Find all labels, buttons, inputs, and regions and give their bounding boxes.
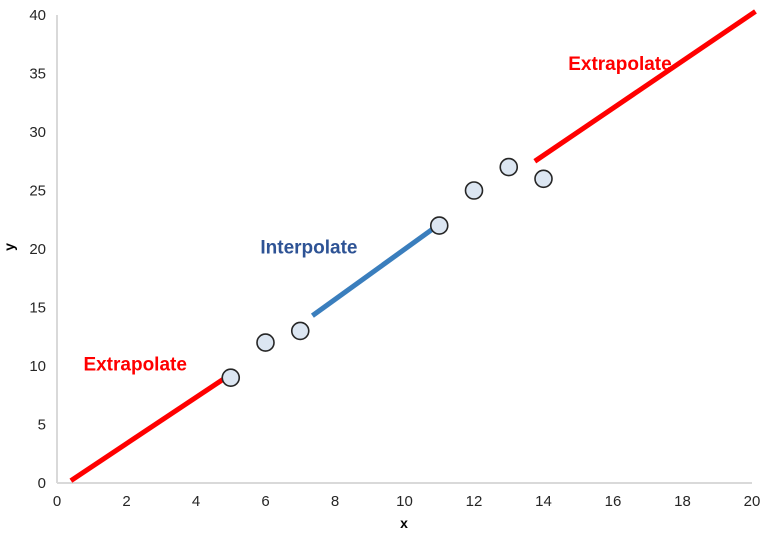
- x-tick-label: 18: [674, 493, 691, 510]
- y-tick-label: 15: [29, 300, 46, 317]
- extrapolate-upper-label: Extrapolate: [568, 54, 671, 75]
- interpolate-label: Interpolate: [260, 238, 357, 259]
- data-point-marker: [431, 217, 448, 234]
- x-tick-label: 20: [744, 493, 761, 510]
- x-tick-label: 10: [396, 493, 413, 510]
- data-point-marker: [466, 182, 483, 199]
- scatter-plot: 0510152025303540 02468101214161820 y x E…: [0, 0, 768, 545]
- data-point-marker: [500, 159, 517, 176]
- data-point-marker: [257, 334, 274, 351]
- data-point-marker: [222, 369, 239, 386]
- data-point-marker: [535, 170, 552, 187]
- x-axis-title: x: [400, 515, 408, 531]
- y-tick-label: 10: [29, 358, 46, 375]
- y-tick-label: 20: [29, 241, 46, 258]
- x-tick-label: 4: [192, 493, 200, 510]
- x-tick-label: 12: [466, 493, 483, 510]
- x-tick-label: 6: [261, 493, 269, 510]
- extrapolate-lower-label: Extrapolate: [83, 355, 186, 376]
- y-tick-label: 35: [29, 66, 46, 83]
- y-tick-label: 30: [29, 124, 46, 141]
- y-tick-label: 25: [29, 183, 46, 200]
- x-tick-label: 8: [331, 493, 339, 510]
- data-point-marker: [292, 322, 309, 339]
- y-axis-title: y: [1, 243, 17, 251]
- x-tick-label: 16: [605, 493, 622, 510]
- x-tick-label: 14: [535, 493, 552, 510]
- x-tick-label: 0: [53, 493, 61, 510]
- y-tick-label: 5: [38, 417, 46, 434]
- y-tick-label: 0: [38, 475, 46, 492]
- x-tick-label: 2: [122, 493, 130, 510]
- chart-container: 0510152025303540 02468101214161820 y x E…: [0, 0, 768, 545]
- y-tick-label: 40: [29, 7, 46, 24]
